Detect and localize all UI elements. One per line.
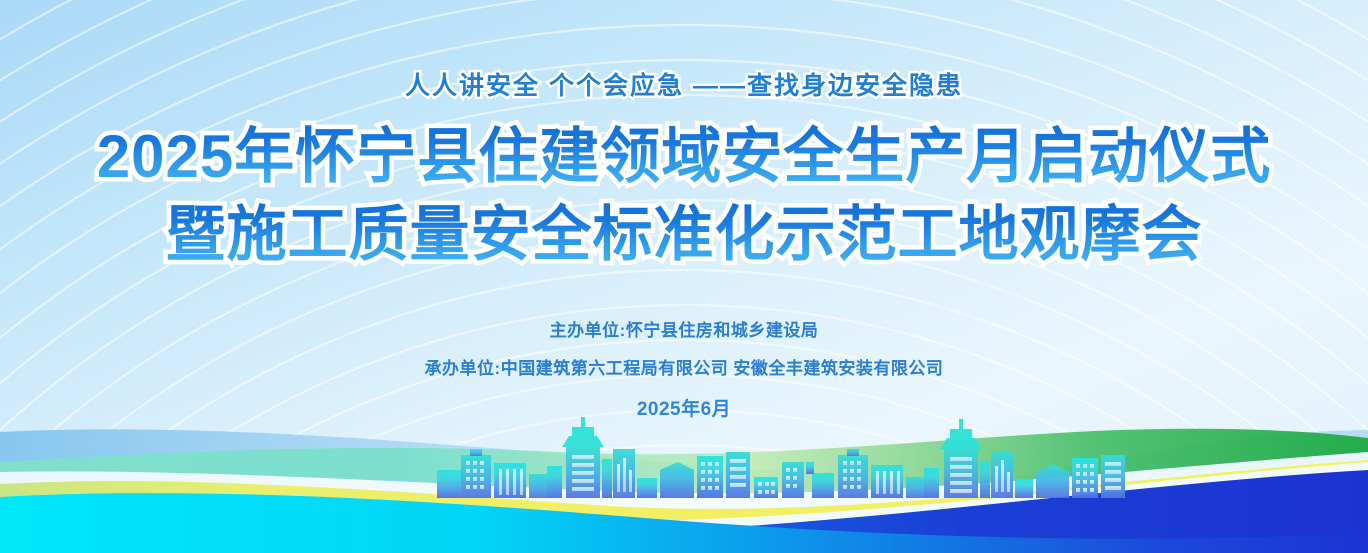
title-line-2: 暨施工质量安全标准化示范工地观摩会 暨施工质量安全标准化示范工地观摩会 [0, 196, 1368, 274]
title-line-1: 2025年怀宁县住建领域安全生产月启动仪式 2025年怀宁县住建领域安全生产月启… [0, 118, 1368, 196]
title-line-2-fill: 暨施工质量安全标准化示范工地观摩会 [166, 201, 1203, 268]
event-date: 2025年6月 [0, 394, 1368, 421]
event-banner: 人人讲安全 个个会应急 ——查找身边安全隐患 2025年怀宁县住建领域安全生产月… [0, 0, 1368, 553]
title-line-1-fill: 2025年怀宁县住建领域安全生产月启动仪式 [97, 123, 1271, 190]
organizer-line: 主办单位:怀宁县住房和城乡建设局 [0, 316, 1368, 341]
banner-title: 2025年怀宁县住建领域安全生产月启动仪式 2025年怀宁县住建领域安全生产月启… [0, 118, 1368, 274]
co-organizer-line: 承办单位:中国建筑第六工程局有限公司 安徽全丰建筑安装有限公司 [0, 354, 1368, 379]
banner-content: 人人讲安全 个个会应急 ——查找身边安全隐患 2025年怀宁县住建领域安全生产月… [0, 0, 1368, 553]
banner-subtitle: 人人讲安全 个个会应急 ——查找身边安全隐患 [0, 66, 1368, 102]
